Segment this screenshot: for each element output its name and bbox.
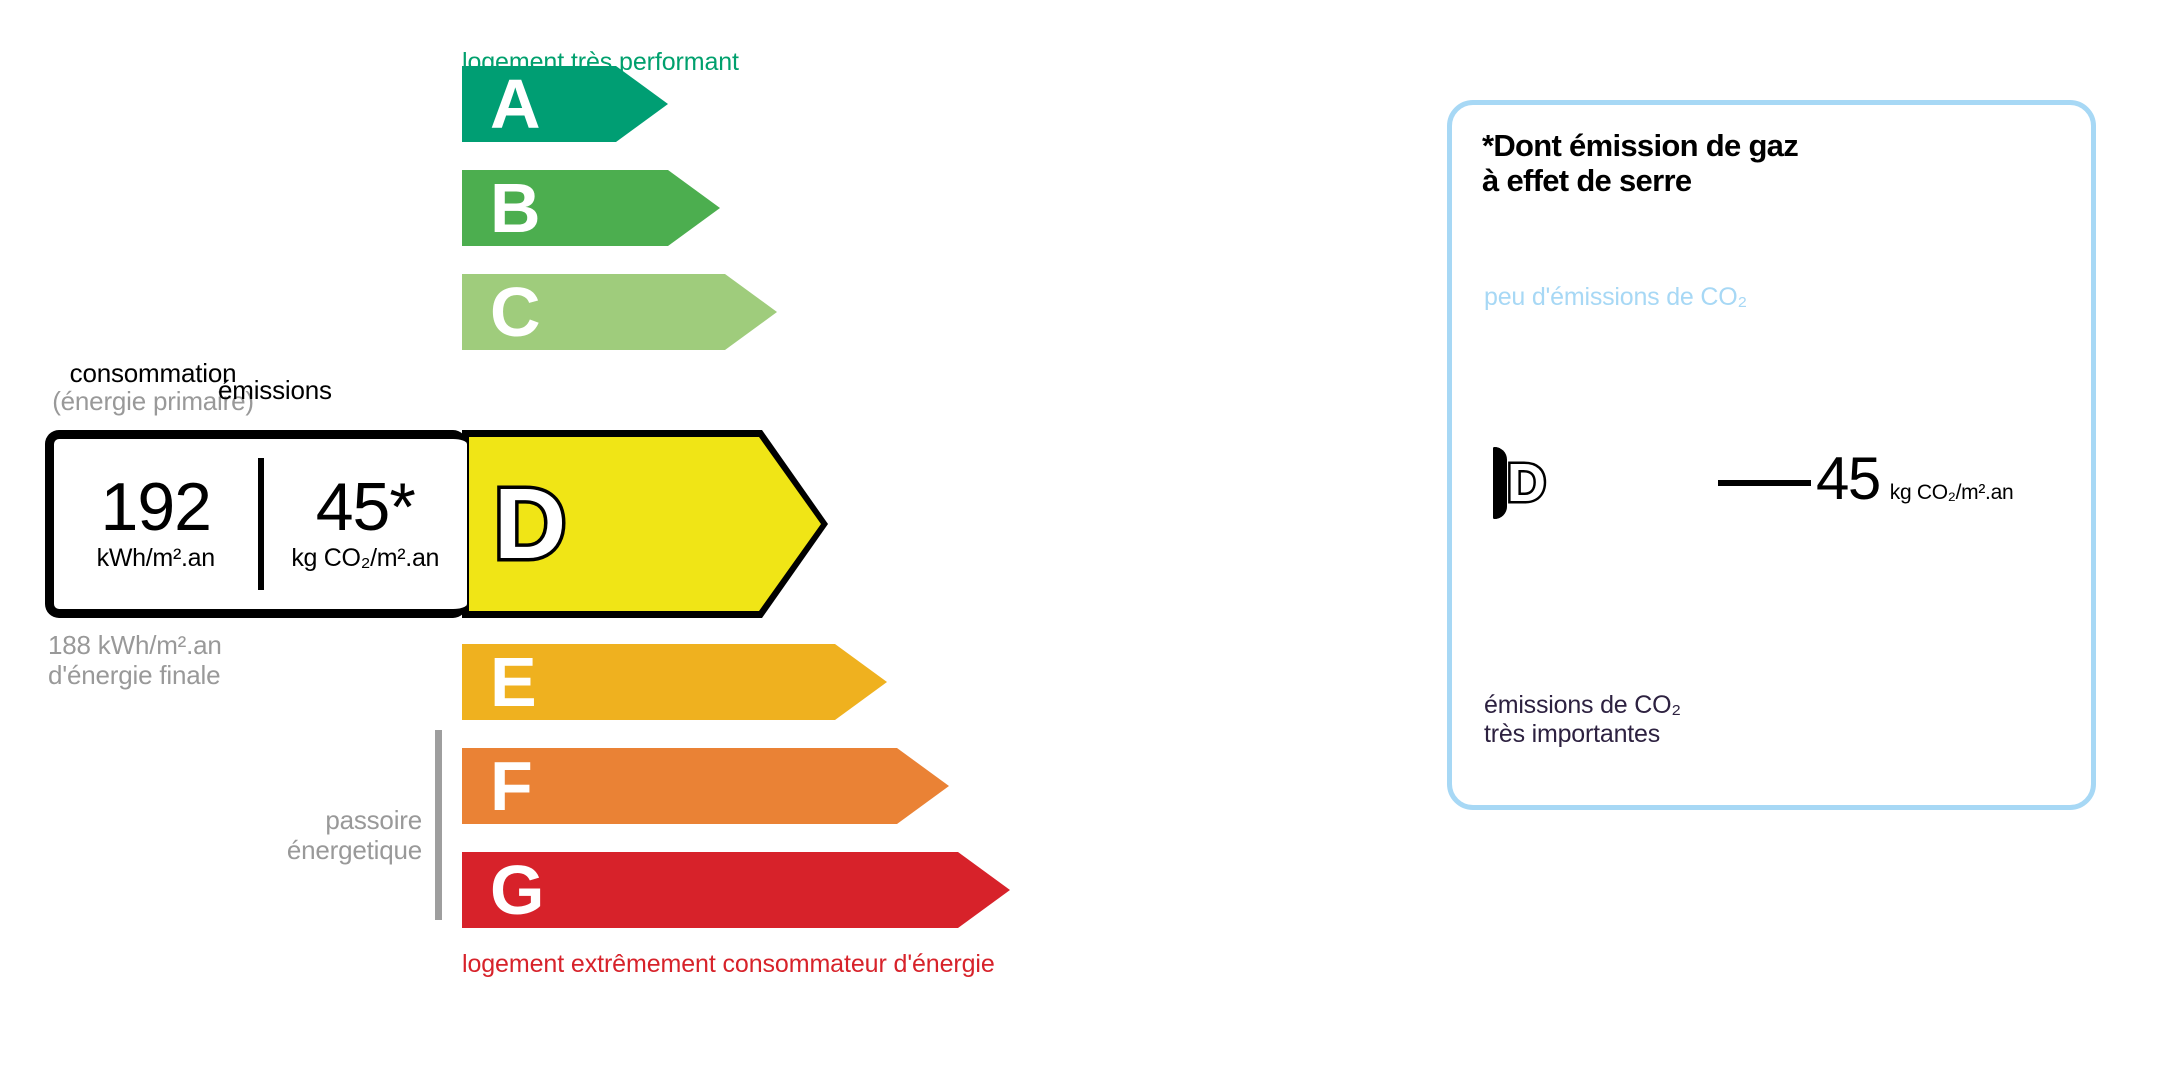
co2-bar-d [1493, 447, 1507, 519]
co2-letter-e: E [1505, 526, 1528, 560]
energy-letter-e: E [490, 647, 537, 717]
emission-unit: kg CO₂/m².an [264, 544, 468, 573]
energy-class-row-c: C [462, 274, 777, 350]
energy-bottom-caption: logement extrêmement consommateur d'éner… [462, 950, 995, 979]
passoire-energetique-bracket [435, 730, 442, 920]
dpe-diagram: logement très performant A B C D E [0, 0, 2169, 1079]
co2-letter-a: A [1505, 318, 1530, 352]
energy-letter-b: B [490, 173, 541, 243]
co2-emissions-panel: *Dont émission de gazà effet de serre pe… [1447, 100, 2096, 810]
energy-class-row-e: E [462, 644, 887, 720]
co2-class-row-b: B [1493, 361, 1630, 397]
value-readout-box: 192 kWh/m².an 45* kg CO₂/m².an [45, 430, 467, 618]
co2-callout-unit: kg CO₂/m².an [1890, 481, 2014, 505]
co2-class-row-f: F [1493, 569, 1793, 605]
co2-letter-c: C [1505, 406, 1530, 440]
consumption-unit: kWh/m².an [54, 544, 258, 573]
emission-number: 45* [264, 475, 468, 540]
energy-letter-d: D [494, 474, 566, 574]
co2-class-row-e: E [1493, 525, 1758, 561]
energy-consumption-scale: logement très performant A B C D E [0, 0, 1300, 1079]
energy-letter-g: G [490, 855, 544, 925]
energy-class-row-b: B [462, 170, 720, 246]
label-emissions: émissions [218, 375, 332, 406]
passoire-energetique-label: passoireénergetique [287, 805, 422, 866]
co2-class-row-g: G [1493, 613, 1831, 649]
co2-class-row-c: C [1493, 405, 1665, 441]
co2-callout-value: 45 [1816, 449, 1880, 509]
co2-letter-g: G [1505, 614, 1531, 648]
co2-letter-b: B [1505, 362, 1530, 396]
label-final-energy: 188 kWh/m².and'énergie finale [48, 630, 222, 691]
co2-top-caption: peu d'émissions de CO₂ [1484, 283, 1747, 312]
co2-class-row-a: A [1493, 317, 1596, 353]
co2-bottom-caption: émissions de CO₂très importantes [1484, 691, 1681, 750]
energy-class-row-d-selected: D [462, 430, 828, 618]
energy-letter-f: F [490, 751, 533, 821]
energy-class-row-f: F [462, 748, 949, 824]
emission-value-cell: 45* kg CO₂/m².an [264, 475, 468, 573]
co2-letter-f: F [1505, 570, 1526, 604]
co2-callout: 45 kg CO₂/m².an [1816, 449, 2013, 509]
consumption-number: 192 [54, 475, 258, 540]
co2-letter-d: D [1507, 456, 1546, 510]
co2-leader-line [1718, 480, 1811, 486]
consumption-value-cell: 192 kWh/m².an [54, 475, 258, 573]
energy-class-row-g: G [462, 852, 1010, 928]
energy-letter-c: C [490, 277, 541, 347]
energy-arrow-f [462, 748, 949, 824]
co2-class-row-d-selected: D [1493, 447, 1708, 519]
energy-letter-a: A [490, 69, 541, 139]
co2-panel-title: *Dont émission de gazà effet de serre [1482, 129, 1798, 198]
energy-class-row-a: A [462, 66, 668, 142]
